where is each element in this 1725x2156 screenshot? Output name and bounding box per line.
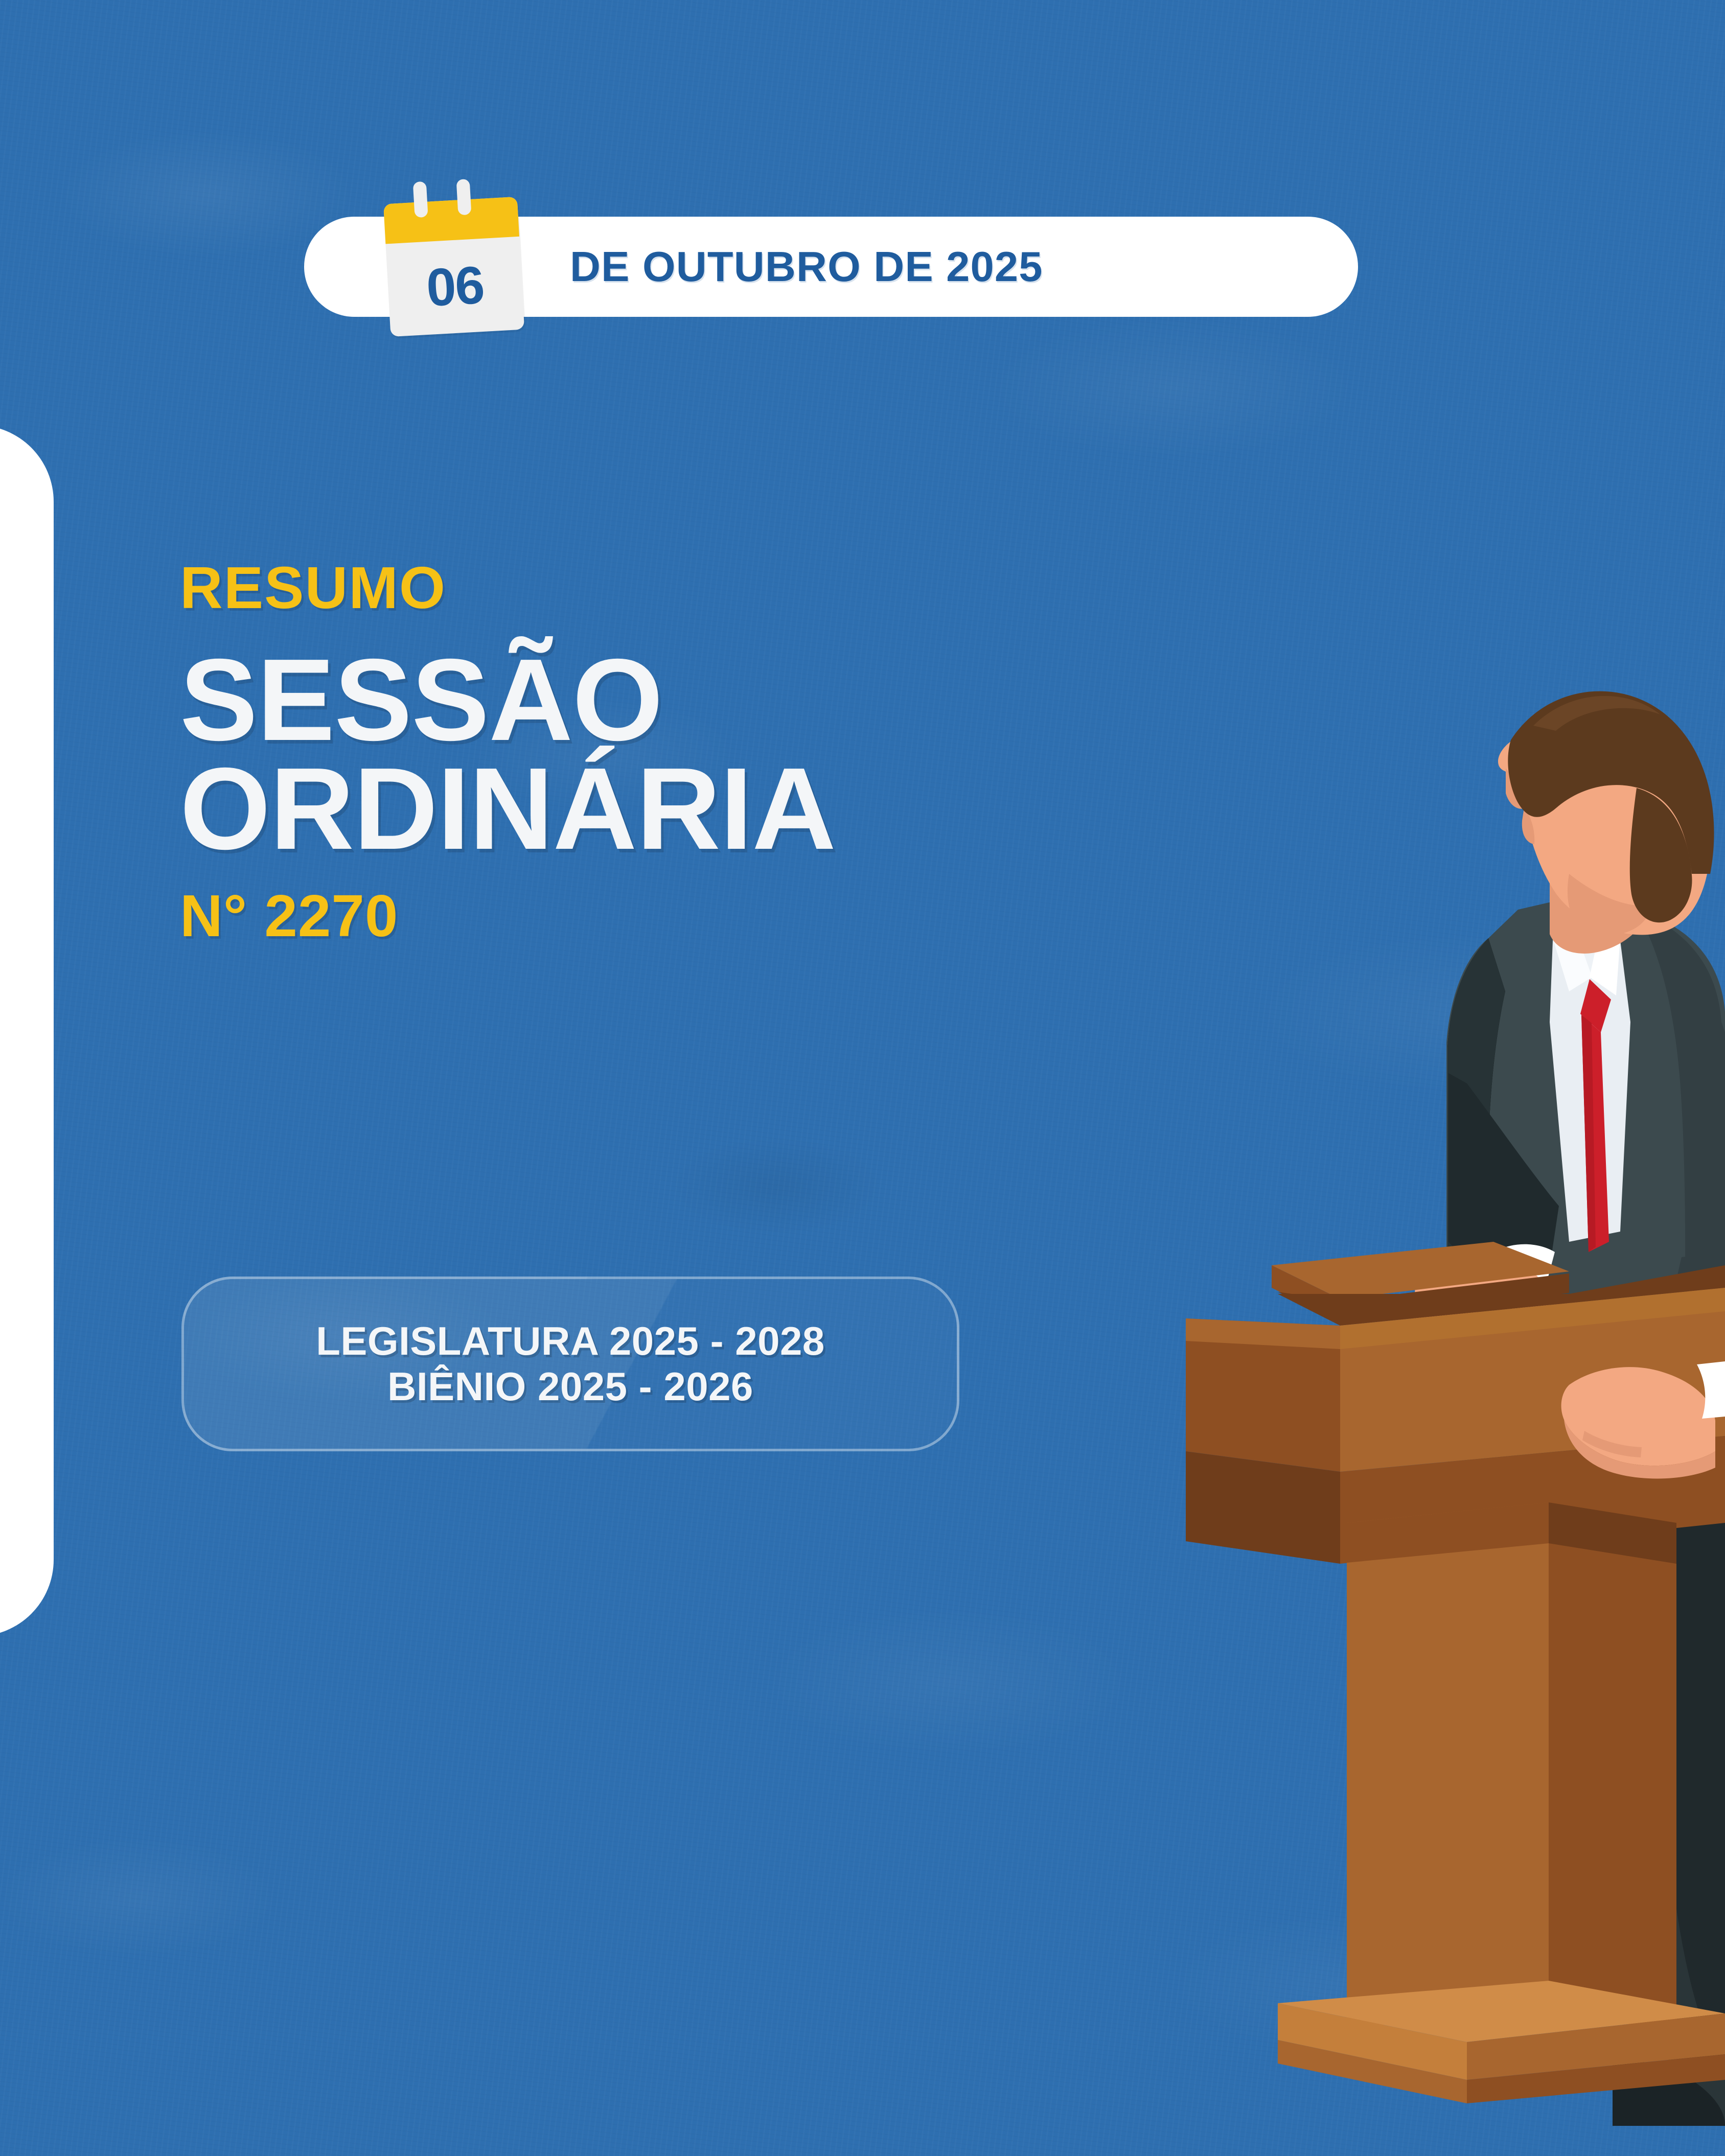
- calendar-ring-left: [413, 181, 428, 218]
- headline-block: RESUMO SESSÃO ORDINÁRIA N° 2270: [180, 558, 836, 945]
- legislature-badge-line-2: BIÊNIO 2025 - 2026: [387, 1365, 753, 1408]
- calendar-day-number: 06: [385, 237, 524, 337]
- left-white-slab: [0, 425, 54, 1636]
- headline-title-line-2: ORDINÁRIA: [180, 753, 836, 866]
- speaker-at-podium-illustration: [1109, 654, 1725, 2156]
- legislature-badge: LEGISLATURA 2025 - 2028 BIÊNIO 2025 - 20…: [181, 1277, 959, 1451]
- calendar-ring-right: [456, 179, 472, 215]
- poster-canvas: DE OUTUBRO DE 2025 06 RESUMO SESSÃO ORDI…: [0, 0, 1725, 2156]
- headline-title-line-1: SESSÃO: [180, 644, 836, 757]
- legislature-badge-line-1: LEGISLATURA 2025 - 2028: [316, 1320, 825, 1362]
- calendar-icon: 06: [382, 176, 524, 337]
- headline-kicker: RESUMO: [180, 558, 836, 617]
- calendar-header-band: [383, 197, 519, 244]
- session-number: N° 2270: [180, 886, 836, 945]
- date-banner-text: DE OUTUBRO DE 2025: [570, 242, 1043, 291]
